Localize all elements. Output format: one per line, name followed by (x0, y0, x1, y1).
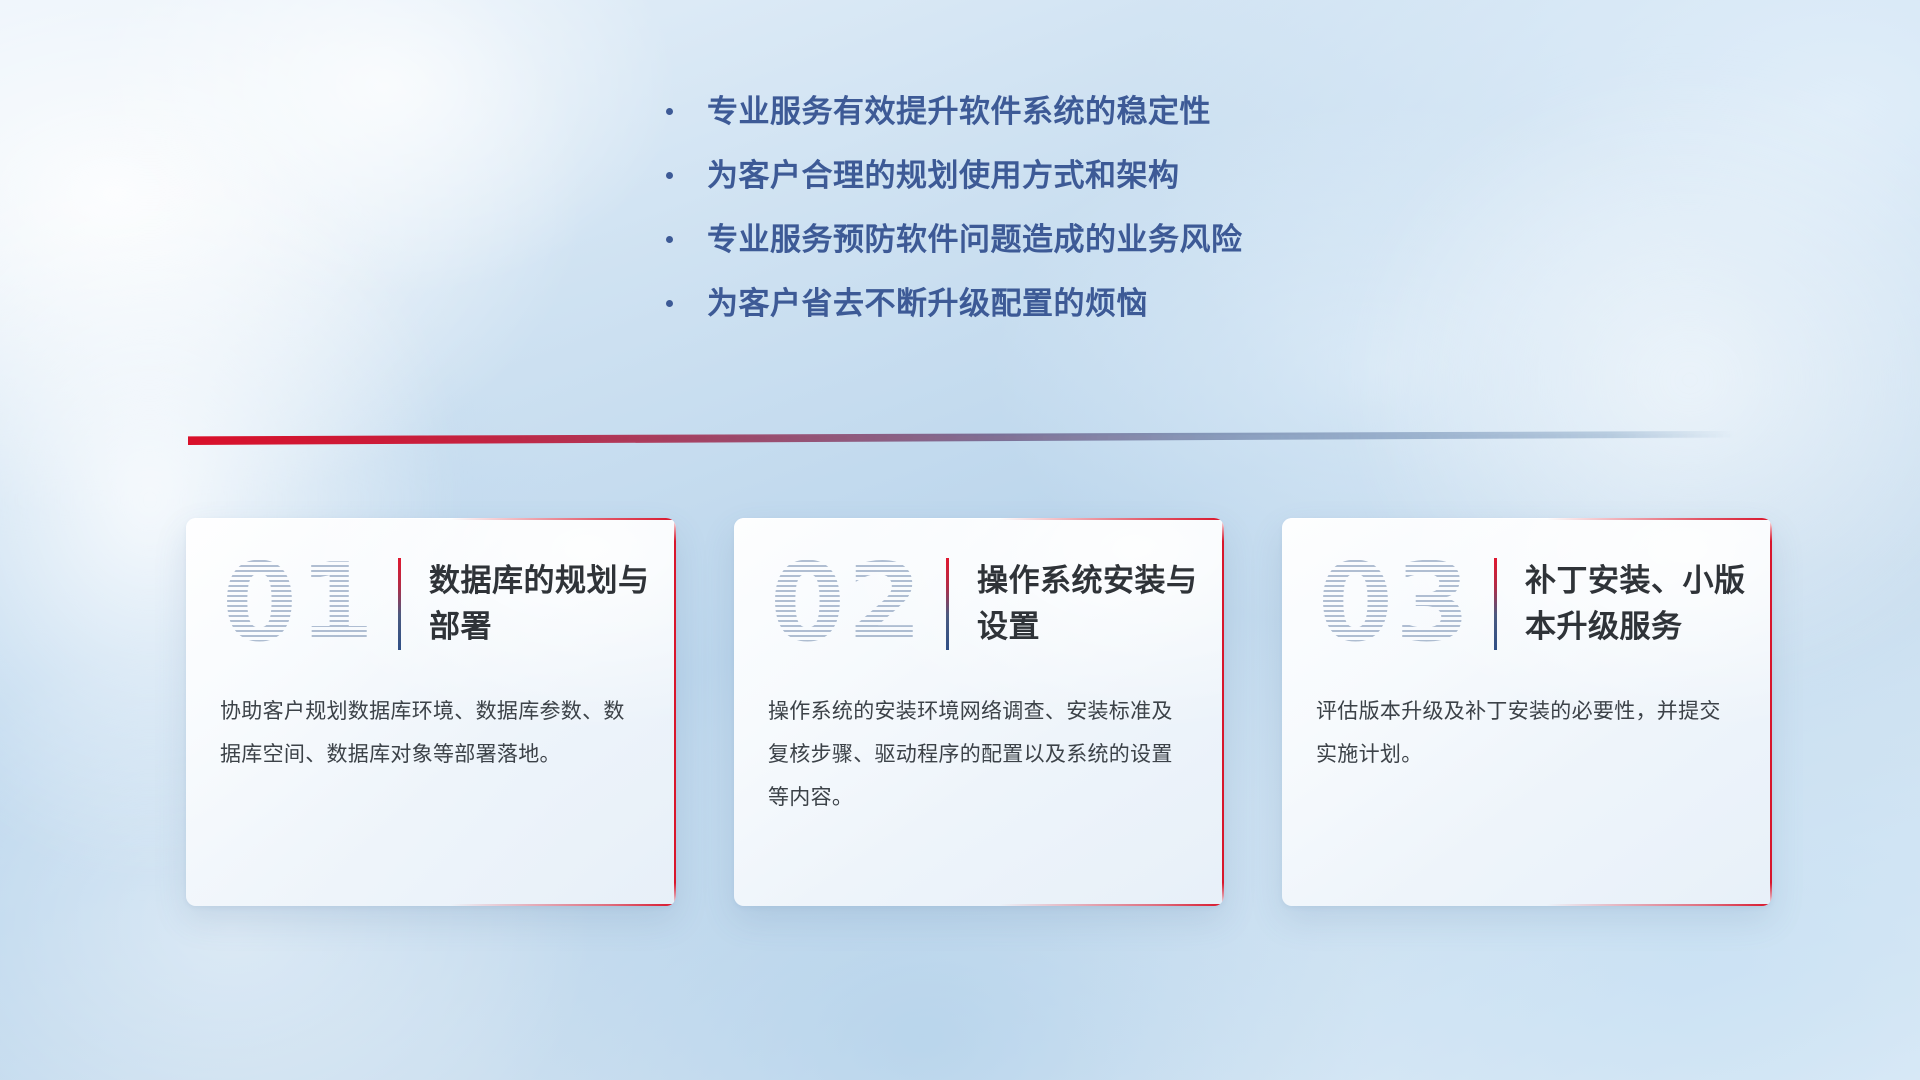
slide-canvas: 专业服务有效提升软件系统的稳定性 为客户合理的规划使用方式和架构 专业服务预防软… (0, 0, 1920, 1080)
card-description: 操作系统的安装环境网络调查、安装标准及复核步骤、驱动程序的配置以及系统的设置等内… (734, 690, 1224, 819)
card-number-watermark: 03 (1300, 550, 1490, 658)
service-card[interactable]: 03 补丁安装、小版本升级服务 评估版本升级及补丁安装的必要性，并提交实施计划。 (1282, 518, 1772, 906)
card-header: 02 操作系统安装与设置 (734, 518, 1224, 690)
bullet-dot-icon (666, 236, 673, 243)
benefits-bullet-list: 专业服务有效提升软件系统的稳定性 为客户合理的规划使用方式和架构 专业服务预防软… (666, 90, 1426, 346)
card-number-watermark: 01 (204, 550, 394, 658)
card-number-watermark: 02 (752, 550, 942, 658)
bullet-item-label: 为客户合理的规划使用方式和架构 (707, 154, 1180, 198)
bullet-dot-icon (666, 172, 673, 179)
card-title: 补丁安装、小版本升级服务 (1525, 558, 1755, 650)
service-card[interactable]: 01 数据库的规划与部署 协助客户规划数据库环境、数据库参数、数据库空间、数据库… (186, 518, 676, 906)
card-accent-edge-bottom (451, 904, 676, 906)
card-description: 协助客户规划数据库环境、数据库参数、数据库空间、数据库对象等部署落地。 (186, 690, 676, 776)
card-accent-edge-bottom (1547, 904, 1772, 906)
section-divider (188, 431, 1734, 445)
bullet-item-label: 专业服务预防软件问题造成的业务风险 (707, 218, 1243, 262)
bullet-dot-icon (666, 300, 673, 307)
bullet-dot-icon (666, 108, 673, 115)
card-accent-edge-bottom (999, 904, 1224, 906)
card-header: 01 数据库的规划与部署 (186, 518, 676, 690)
bullet-item: 专业服务有效提升软件系统的稳定性 (666, 90, 1426, 134)
card-title-rule (946, 558, 949, 650)
bullet-item-label: 为客户省去不断升级配置的烦恼 (707, 282, 1148, 326)
card-description: 评估版本升级及补丁安装的必要性，并提交实施计划。 (1282, 690, 1772, 776)
card-title: 操作系统安装与设置 (977, 558, 1207, 650)
bullet-item-label: 专业服务有效提升软件系统的稳定性 (707, 90, 1211, 134)
bullet-item: 专业服务预防软件问题造成的业务风险 (666, 218, 1426, 262)
card-title-rule (1494, 558, 1497, 650)
bullet-item: 为客户省去不断升级配置的烦恼 (666, 282, 1426, 326)
bullet-item: 为客户合理的规划使用方式和架构 (666, 154, 1426, 198)
card-title-rule (398, 558, 401, 650)
service-card[interactable]: 02 操作系统安装与设置 操作系统的安装环境网络调查、安装标准及复核步骤、驱动程… (734, 518, 1224, 906)
card-header: 03 补丁安装、小版本升级服务 (1282, 518, 1772, 690)
card-title: 数据库的规划与部署 (429, 558, 659, 650)
service-card-list: 01 数据库的规划与部署 协助客户规划数据库环境、数据库参数、数据库空间、数据库… (186, 518, 1772, 906)
